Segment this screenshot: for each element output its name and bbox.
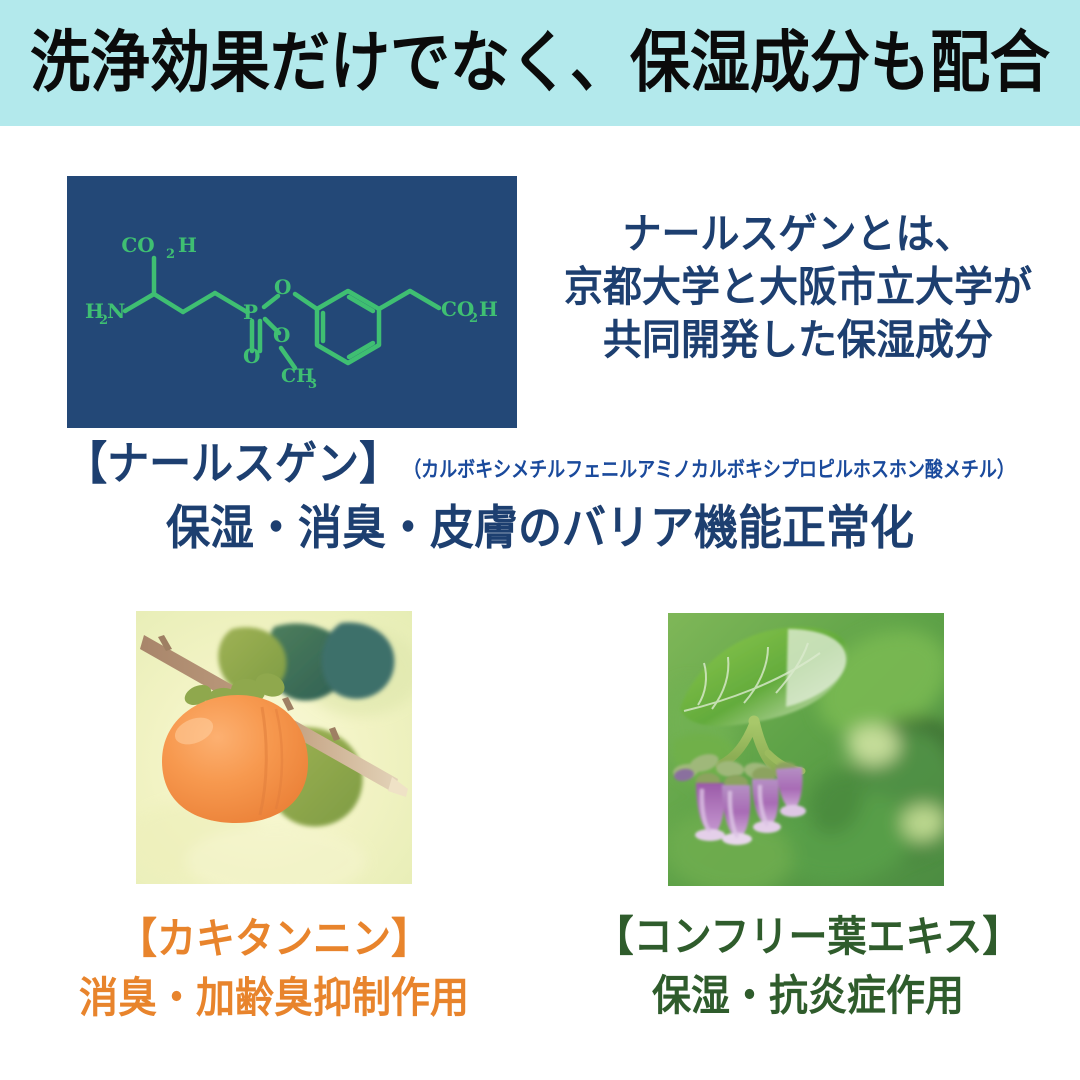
persimmon-on-branch-photo	[136, 611, 412, 884]
svg-text:2: 2	[469, 311, 478, 326]
svg-text:H: H	[479, 297, 498, 321]
header-banner: 洗浄効果だけでなく、保湿成分も配合	[0, 0, 1080, 126]
svg-text:O: O	[274, 275, 291, 299]
svg-text:H: H	[178, 233, 197, 257]
ingredient-description-comfrey: 保湿・抗炎症作用	[538, 975, 1078, 1017]
nahlsgen-structure-icon: CO 2 H H 2 N P O O O CH 3 CO 2 H	[67, 176, 517, 428]
ingredient-description-kaki: 消臭・加齢臭抑制作用	[4, 977, 544, 1019]
intro-line-2: 京都大学と大阪市立大学が	[528, 261, 1068, 314]
intro-line-1: ナールスゲンとは、	[528, 208, 1068, 261]
chemical-structure-panel: CO 2 H H 2 N P O O O CH 3 CO 2 H	[67, 176, 517, 428]
ingredient-caption-comfrey: 【コンフリー葉エキス】 保湿・抗炎症作用	[538, 918, 1078, 1016]
svg-text:N: N	[107, 299, 125, 323]
nahlsgen-chemical-name: （カルボキシメチルフェニルアミノカルボキシプロピルホスホン酸メチル）	[403, 460, 1015, 481]
nahlsgen-name: 【ナールスゲン】	[65, 441, 401, 486]
ingredient-caption-kaki: 【カキタンニン】 消臭・加齢臭抑制作用	[4, 920, 544, 1018]
comfrey-photo-image	[668, 613, 944, 886]
nahlsgen-name-row: 【ナールスゲン】 （カルボキシメチルフェニルアミノカルボキシプロピルホスホン酸メ…	[0, 443, 1080, 485]
nahlsgen-intro-text: ナールスゲンとは、 京都大学と大阪市立大学が 共同開発した保湿成分	[528, 208, 1068, 367]
svg-text:O: O	[243, 344, 260, 368]
svg-text:3: 3	[308, 377, 317, 392]
svg-text:O: O	[273, 323, 290, 347]
svg-text:2: 2	[166, 247, 175, 262]
page-title: 洗浄効果だけでなく、保湿成分も配合	[30, 29, 1050, 96]
ingredient-title-kaki: 【カキタンニン】	[4, 918, 544, 960]
svg-text:P: P	[243, 300, 258, 324]
comfrey-leaf-flower-photo	[668, 613, 944, 886]
svg-text:CO: CO	[121, 233, 154, 257]
intro-line-3: 共同開発した保湿成分	[528, 314, 1068, 367]
persimmon-photo-image	[136, 611, 412, 884]
ingredient-title-comfrey: 【コンフリー葉エキス】	[538, 916, 1078, 958]
nahlsgen-effects: 保湿・消臭・皮膚のバリア機能正常化	[0, 503, 1080, 555]
